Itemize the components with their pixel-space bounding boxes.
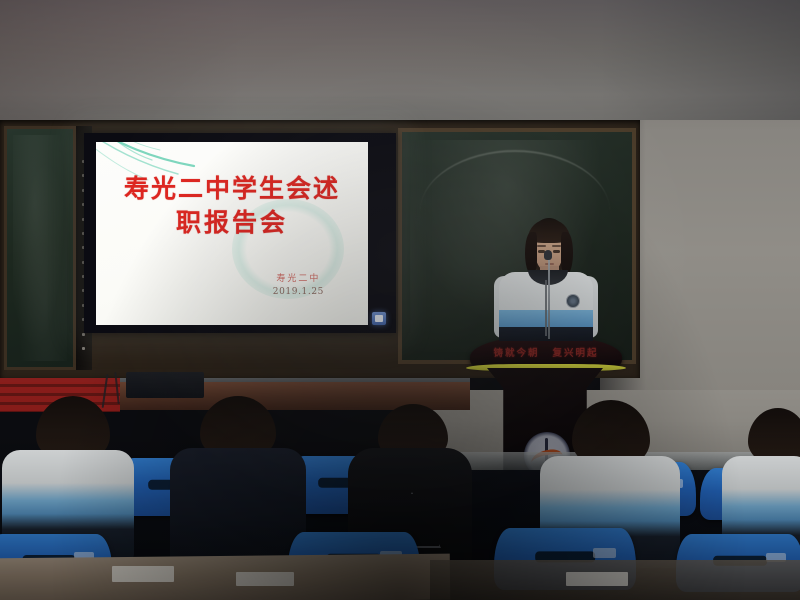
paper-sheet-3	[566, 572, 628, 586]
slide-title-line-1: 寿光二中学生会述	[124, 174, 340, 203]
microphone-icon	[544, 250, 552, 260]
paper-sheet-1	[112, 566, 174, 582]
speaker-brow-right	[552, 245, 561, 247]
speaker-zipper	[545, 280, 547, 336]
slide-signature: 寿光二中	[273, 273, 324, 286]
slide-title-line-2: 职报告会	[96, 206, 368, 240]
monitor-rear-panel	[126, 372, 204, 398]
paper-sheet-2	[236, 572, 294, 586]
speaker-eye-right	[553, 250, 560, 253]
projection-screen: 寿光二中学生会述 职报告会 寿光二中 2019.1.25	[96, 142, 368, 325]
screen-share-icon	[372, 312, 386, 325]
chalkboard-left-panel	[4, 126, 76, 370]
slide-signature-block: 寿光二中 2019.1.25	[273, 273, 324, 299]
classroom-photo: 寿光二中学生会述 职报告会 寿光二中 2019.1.25 铸就今朝 复兴明起	[0, 0, 800, 600]
podium-banner-left: 铸就今朝	[493, 345, 539, 359]
speaker-hair-right	[561, 232, 573, 274]
podium-banner-right: 复兴明起	[553, 345, 599, 359]
speaker-hair-left	[525, 232, 537, 274]
school-badge	[566, 294, 580, 308]
slide-title: 寿光二中学生会述 职报告会	[96, 172, 368, 240]
microphone-stand	[548, 255, 550, 339]
slide-date: 2019.1.25	[273, 286, 324, 299]
ceiling-shading	[0, 0, 800, 135]
podium-banner-text: 铸就今朝 复兴明起	[470, 344, 622, 360]
front-desk	[0, 554, 450, 600]
speaker-brow-left	[537, 245, 546, 247]
student-2-jacket	[170, 448, 306, 562]
